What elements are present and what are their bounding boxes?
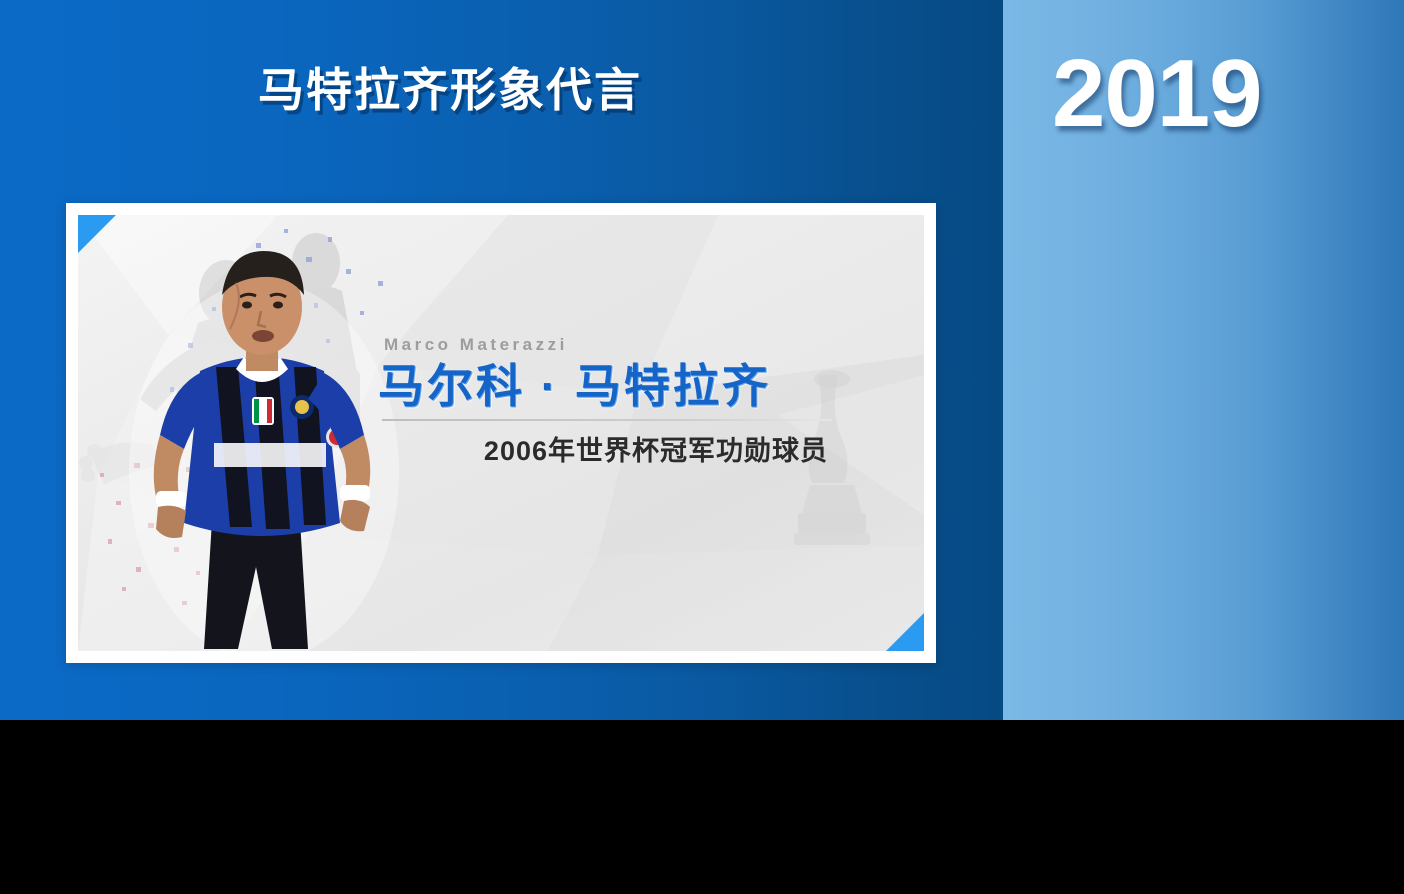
page-title: 马特拉齐形象代言 [258, 64, 958, 117]
card-text-block: Marco Materazzi 马尔科 · 马特拉齐 2006年世界杯冠军功勋球… [378, 335, 848, 468]
corner-accent-top-left-icon [78, 215, 116, 253]
latin-name-label: Marco Materazzi [384, 335, 848, 355]
text-divider [382, 419, 832, 421]
player-photo [104, 221, 414, 651]
year-label: 2019 [1052, 46, 1262, 142]
image-card: Marco Materazzi 马尔科 · 马特拉齐 2006年世界杯冠军功勋球… [66, 203, 936, 663]
card-subtitle: 2006年世界杯冠军功勋球员 [378, 429, 828, 468]
corner-accent-bottom-right-icon [886, 613, 924, 651]
image-card-inner: Marco Materazzi 马尔科 · 马特拉齐 2006年世界杯冠军功勋球… [78, 215, 924, 651]
chinese-name-label: 马尔科 · 马特拉齐 [378, 361, 848, 413]
slide-letterbox-area [0, 720, 1404, 894]
presentation-slide: 马特拉齐形象代言 2019 [0, 0, 1404, 720]
